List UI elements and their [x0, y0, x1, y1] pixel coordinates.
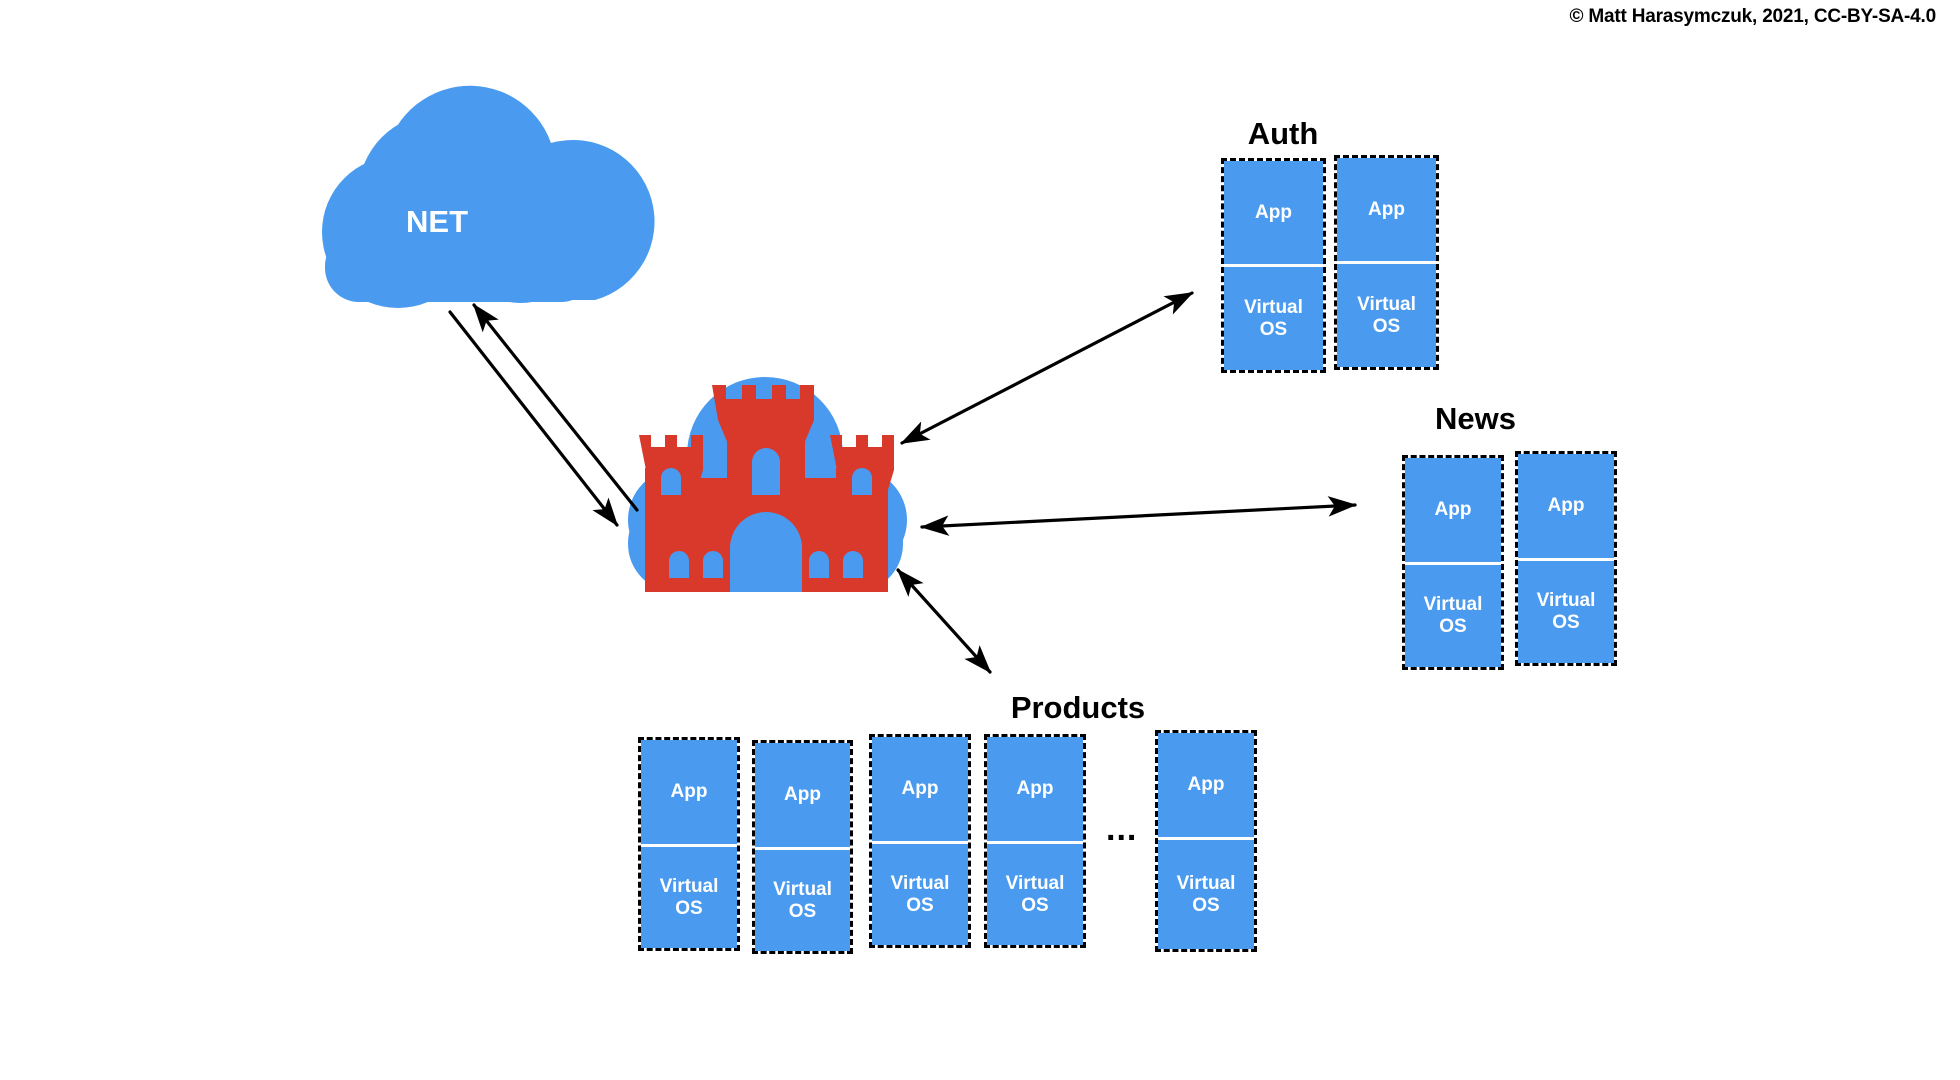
vm-os-label: Virtual OS: [1405, 565, 1501, 667]
arrow-firewall-products: [898, 570, 990, 672]
vm-news-2[interactable]: App Virtual OS: [1515, 451, 1617, 666]
vm-app-label: App: [1224, 161, 1323, 264]
vm-app-label: App: [1158, 733, 1254, 837]
cloud-icon: [322, 86, 655, 308]
vm-app-label: App: [1405, 458, 1501, 562]
vm-os-label: Virtual OS: [1337, 264, 1436, 367]
cloud-label-net: NET: [406, 204, 468, 240]
vm-os-label: Virtual OS: [1224, 267, 1323, 370]
vm-app-label: App: [755, 743, 850, 847]
group-title-products: Products: [978, 690, 1178, 726]
vm-os-label: Virtual OS: [1518, 561, 1614, 663]
vm-auth-1[interactable]: App Virtual OS: [1221, 158, 1326, 373]
group-title-news: News: [1408, 401, 1543, 437]
copyright-notice: © Matt Harasymczuk, 2021, CC-BY-SA-4.0: [1570, 6, 1936, 28]
vm-app-label: App: [872, 737, 968, 841]
arrow-firewall-to-net: [474, 305, 637, 510]
vm-os-label: Virtual OS: [872, 844, 968, 945]
vm-auth-2[interactable]: App Virtual OS: [1334, 155, 1439, 370]
vm-news-1[interactable]: App Virtual OS: [1402, 455, 1504, 670]
arrow-net-to-firewall: [450, 312, 617, 525]
vm-os-label: Virtual OS: [755, 850, 850, 951]
vm-products-5[interactable]: App Virtual OS: [1155, 730, 1257, 952]
group-title-auth: Auth: [1228, 116, 1338, 152]
diagram-canvas: © Matt Harasymczuk, 2021, CC-BY-SA-4.0: [0, 0, 1960, 1080]
vm-os-label: Virtual OS: [641, 847, 737, 948]
vm-app-label: App: [987, 737, 1083, 841]
vm-products-3[interactable]: App Virtual OS: [869, 734, 971, 948]
vm-app-label: App: [1518, 454, 1614, 558]
castle-firewall-icon: [628, 377, 907, 592]
vm-os-label: Virtual OS: [987, 844, 1083, 945]
arrow-firewall-auth: [902, 293, 1192, 443]
diagram-vector-layer: [0, 0, 1960, 1080]
products-ellipsis: ...: [1106, 812, 1137, 846]
vm-os-label: Virtual OS: [1158, 840, 1254, 949]
vm-products-4[interactable]: App Virtual OS: [984, 734, 1086, 948]
arrow-firewall-news: [922, 505, 1355, 527]
vm-products-2[interactable]: App Virtual OS: [752, 740, 853, 954]
vm-app-label: App: [1337, 158, 1436, 261]
vm-app-label: App: [641, 740, 737, 844]
vm-products-1[interactable]: App Virtual OS: [638, 737, 740, 951]
